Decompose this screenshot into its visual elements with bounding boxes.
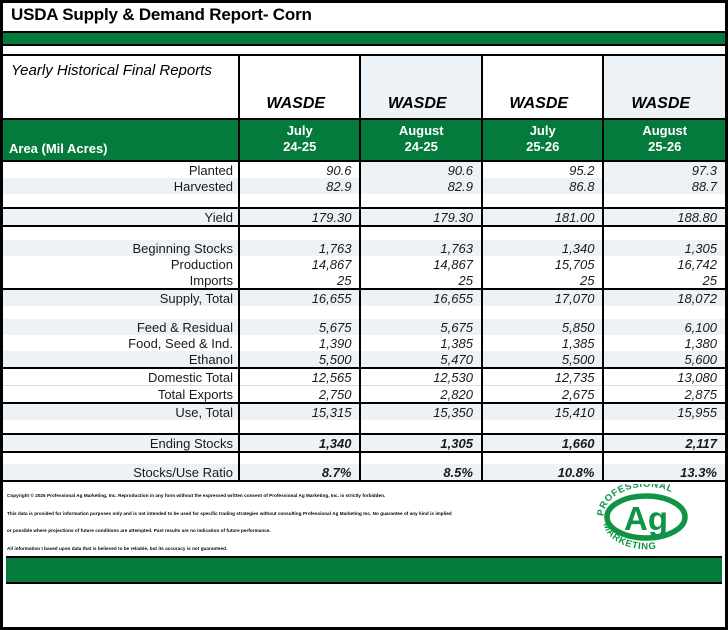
table-row: Imports 25 25 25 25	[3, 272, 725, 289]
column-period-2: July 25-26	[482, 119, 604, 161]
row-value: 5,500	[482, 351, 604, 368]
row-value: 5,675	[239, 319, 361, 335]
table-row: Feed & Residual 5,675 5,675 5,850 6,100	[3, 319, 725, 335]
spacer-cell	[603, 306, 725, 319]
row-value: 5,470	[360, 351, 482, 368]
row-value: 15,955	[603, 403, 725, 420]
column-years-2: 25-26	[483, 139, 603, 155]
row-value: 86.8	[482, 178, 604, 194]
footer: Copyright © 2025 Professional Ag Marketi…	[3, 480, 725, 554]
row-value: 88.7	[603, 178, 725, 194]
row-value: 16,742	[603, 256, 725, 272]
table-body: Planted 90.6 90.6 95.2 97.3 Harvested 82…	[3, 161, 725, 480]
spacer-cell	[360, 306, 482, 319]
logo-center-text: Ag	[624, 500, 668, 537]
row-value: 2,750	[239, 386, 361, 404]
spacer-row	[3, 306, 725, 319]
row-value: 90.6	[360, 161, 482, 178]
table-row: Production 14,867 14,867 15,705 16,742	[3, 256, 725, 272]
row-value: 1,340	[239, 434, 361, 452]
spacer-cell	[3, 452, 239, 464]
row-value: 15,315	[239, 403, 361, 420]
row-value: 97.3	[603, 161, 725, 178]
spacer-cell	[482, 452, 604, 464]
column-years-0: 24-25	[240, 139, 360, 155]
row-label: Planted	[3, 161, 239, 178]
row-value: 12,530	[360, 368, 482, 386]
row-value: 1,340	[482, 240, 604, 256]
column-month-3: August	[604, 123, 725, 139]
row-value: 82.9	[239, 178, 361, 194]
row-label: Use, Total	[3, 403, 239, 420]
row-label: Total Exports	[3, 386, 239, 404]
row-value: 12,735	[482, 368, 604, 386]
footer-accent-rule	[6, 556, 722, 584]
row-value: 1,390	[239, 335, 361, 351]
row-value: 15,705	[482, 256, 604, 272]
row-value: 14,867	[360, 256, 482, 272]
row-value: 179.30	[239, 208, 361, 226]
column-source-2: WASDE	[482, 55, 604, 119]
row-value: 1,763	[239, 240, 361, 256]
row-value: 25	[603, 272, 725, 289]
row-label: Imports	[3, 272, 239, 289]
column-years-1: 24-25	[361, 139, 481, 155]
row-value: 10.8%	[482, 464, 604, 480]
area-units-label: Area (Mil Acres)	[3, 119, 239, 161]
spacer-cell	[482, 226, 604, 240]
column-source-1: WASDE	[360, 55, 482, 119]
row-value: 179.30	[360, 208, 482, 226]
spacer-cell	[482, 420, 604, 434]
row-value: 17,070	[482, 289, 604, 306]
spacer-cell	[360, 420, 482, 434]
row-value: 13,080	[603, 368, 725, 386]
table-header: Yearly Historical Final Reports WASDE WA…	[3, 55, 725, 161]
supply-demand-table: Yearly Historical Final Reports WASDE WA…	[3, 54, 725, 480]
spacer-cell	[3, 226, 239, 240]
row-value: 181.00	[482, 208, 604, 226]
row-label: Production	[3, 256, 239, 272]
row-value: 5,600	[603, 351, 725, 368]
spacer-row	[3, 226, 725, 240]
spacer-cell	[3, 420, 239, 434]
header-row-period: Area (Mil Acres) July 24-25 August 24-25…	[3, 119, 725, 161]
page-title: USDA Supply & Demand Report- Corn	[3, 3, 725, 31]
title-accent-rule	[3, 31, 725, 46]
spacer-cell	[603, 194, 725, 208]
table-row: Ethanol 5,500 5,470 5,500 5,600	[3, 351, 725, 368]
row-value: 95.2	[482, 161, 604, 178]
column-period-0: July 24-25	[239, 119, 361, 161]
table-row: Use, Total 15,315 15,350 15,410 15,955	[3, 403, 725, 420]
professional-ag-marketing-logo: PROFESSIONAL MARKETING Ag	[593, 484, 699, 550]
row-value: 25	[360, 272, 482, 289]
row-value: 8.7%	[239, 464, 361, 480]
table-row: Total Exports 2,750 2,820 2,675 2,875	[3, 386, 725, 404]
row-value: 15,410	[482, 403, 604, 420]
spacer-cell	[603, 452, 725, 464]
column-month-1: August	[361, 123, 481, 139]
spacer-cell	[239, 226, 361, 240]
spacer-row	[3, 420, 725, 434]
column-period-1: August 24-25	[360, 119, 482, 161]
row-label: Yield	[3, 208, 239, 226]
spacer-cell	[482, 194, 604, 208]
spacer-row	[3, 194, 725, 208]
row-value: 18,072	[603, 289, 725, 306]
report-page: USDA Supply & Demand Report- Corn Yearly…	[0, 0, 728, 630]
table-row: Supply, Total 16,655 16,655 17,070 18,07…	[3, 289, 725, 306]
row-value: 25	[239, 272, 361, 289]
row-value: 1,305	[360, 434, 482, 452]
table-row: Planted 90.6 90.6 95.2 97.3	[3, 161, 725, 178]
row-value: 188.80	[603, 208, 725, 226]
row-value: 8.5%	[360, 464, 482, 480]
spacer-cell	[482, 306, 604, 319]
row-label: Ethanol	[3, 351, 239, 368]
row-value: 2,820	[360, 386, 482, 404]
row-value: 13.3%	[603, 464, 725, 480]
row-value: 5,850	[482, 319, 604, 335]
row-label: Stocks/Use Ratio	[3, 464, 239, 480]
row-value: 2,875	[603, 386, 725, 404]
row-value: 2,675	[482, 386, 604, 404]
row-label: Beginning Stocks	[3, 240, 239, 256]
spacer-cell	[3, 194, 239, 208]
row-value: 1,385	[360, 335, 482, 351]
row-value: 2,117	[603, 434, 725, 452]
spacer-cell	[239, 306, 361, 319]
table-row: Domestic Total 12,565 12,530 12,735 13,0…	[3, 368, 725, 386]
row-value: 25	[482, 272, 604, 289]
spacer-cell	[360, 452, 482, 464]
row-value: 1,660	[482, 434, 604, 452]
row-value: 82.9	[360, 178, 482, 194]
row-label: Food, Seed & Ind.	[3, 335, 239, 351]
row-value: 14,867	[239, 256, 361, 272]
spacer-cell	[239, 194, 361, 208]
table-row: Beginning Stocks 1,763 1,763 1,340 1,305	[3, 240, 725, 256]
table-row: Food, Seed & Ind. 1,390 1,385 1,385 1,38…	[3, 335, 725, 351]
header-row-source: Yearly Historical Final Reports WASDE WA…	[3, 55, 725, 119]
column-period-3: August 25-26	[603, 119, 725, 161]
spacer-cell	[360, 226, 482, 240]
spacer-cell	[3, 306, 239, 319]
row-label: Harvested	[3, 178, 239, 194]
column-month-2: July	[483, 123, 603, 139]
row-value: 1,385	[482, 335, 604, 351]
row-value: 1,305	[603, 240, 725, 256]
row-value: 12,565	[239, 368, 361, 386]
row-value: 5,675	[360, 319, 482, 335]
row-value: 15,350	[360, 403, 482, 420]
row-value: 6,100	[603, 319, 725, 335]
row-value: 1,380	[603, 335, 725, 351]
row-label: Ending Stocks	[3, 434, 239, 452]
row-label: Feed & Residual	[3, 319, 239, 335]
table-row: Yield 179.30 179.30 181.00 188.80	[3, 208, 725, 226]
column-month-0: July	[240, 123, 360, 139]
row-value: 16,655	[360, 289, 482, 306]
spacer-cell	[360, 194, 482, 208]
spacer-cell	[239, 452, 361, 464]
spacer-row	[3, 452, 725, 464]
row-value: 5,500	[239, 351, 361, 368]
table-row: Harvested 82.9 82.9 86.8 88.7	[3, 178, 725, 194]
table-row: Stocks/Use Ratio 8.7% 8.5% 10.8% 13.3%	[3, 464, 725, 480]
row-value: 1,763	[360, 240, 482, 256]
row-value: 16,655	[239, 289, 361, 306]
spacer-cell	[603, 226, 725, 240]
row-label: Supply, Total	[3, 289, 239, 306]
column-years-3: 25-26	[604, 139, 725, 155]
title-spacer	[3, 46, 725, 54]
table-row: Ending Stocks 1,340 1,305 1,660 2,117	[3, 434, 725, 452]
corner-label: Yearly Historical Final Reports	[3, 55, 239, 119]
row-value: 90.6	[239, 161, 361, 178]
row-label: Domestic Total	[3, 368, 239, 386]
spacer-cell	[239, 420, 361, 434]
column-source-0: WASDE	[239, 55, 361, 119]
column-source-3: WASDE	[603, 55, 725, 119]
spacer-cell	[603, 420, 725, 434]
